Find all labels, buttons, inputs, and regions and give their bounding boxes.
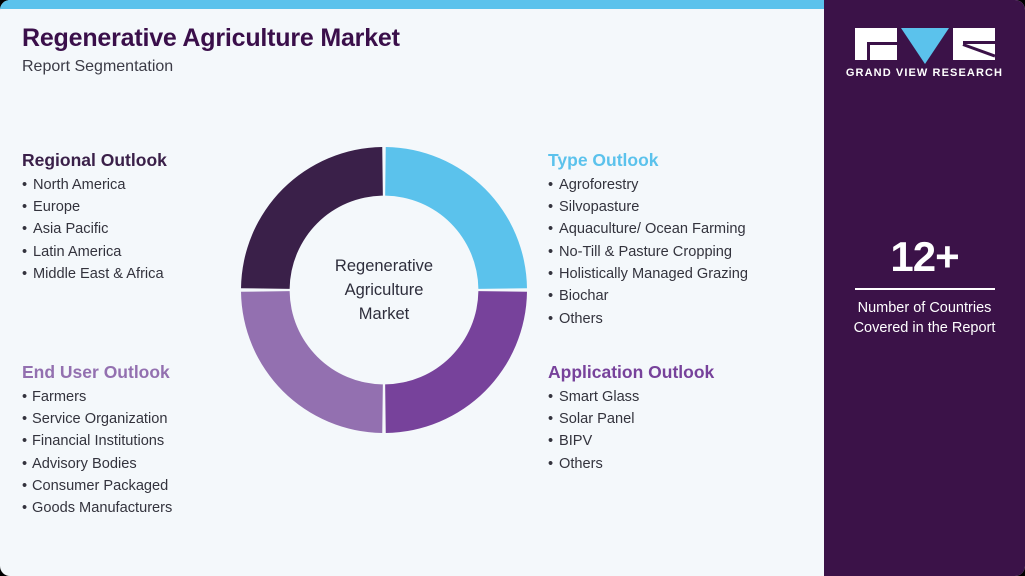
brand-logo: GRAND VIEW RESEARCH (824, 28, 1025, 79)
list-item-label: Holistically Managed Grazing (559, 266, 748, 282)
list-item-label: North America (33, 177, 125, 193)
bullet-icon: • (548, 308, 559, 330)
bullet-icon: • (22, 174, 33, 196)
donut-chart: Regenerative Agriculture Market (240, 146, 528, 434)
bullet-icon: • (548, 196, 559, 218)
section-application-outlook: Application Outlook •Smart Glass •Solar … (548, 362, 714, 475)
stat-caption: Number of Countries Covered in the Repor… (824, 298, 1025, 338)
bullet-icon: • (22, 497, 32, 519)
list-item: •Agroforestry (548, 174, 748, 196)
infographic-root: Regenerative Agriculture Market Report S… (0, 0, 1025, 576)
section-end-user-outlook: End User Outlook •Farmers •Service Organ… (22, 362, 172, 520)
end-user-outlook-list: •Farmers •Service Organization •Financia… (22, 386, 172, 520)
regional-outlook-heading: Regional Outlook (22, 150, 167, 172)
page-title: Regenerative Agriculture Market (22, 24, 722, 53)
list-item-label: Agroforestry (559, 177, 638, 193)
list-item: •Europe (22, 196, 167, 218)
application-outlook-heading: Application Outlook (548, 362, 714, 384)
list-item-label: Biochar (559, 288, 608, 304)
donut-segment (241, 291, 383, 433)
header: Regenerative Agriculture Market Report S… (22, 24, 722, 76)
stat-divider (855, 288, 995, 290)
list-item-label: BIPV (559, 433, 592, 449)
list-item-label: Advisory Bodies (32, 456, 137, 472)
list-item-label: Financial Institutions (32, 433, 164, 449)
list-item: •Others (548, 453, 714, 475)
list-item: •Holistically Managed Grazing (548, 263, 748, 285)
application-outlook-list: •Smart Glass •Solar Panel •BIPV •Others (548, 386, 714, 475)
bullet-icon: • (548, 241, 559, 263)
list-item: •Latin America (22, 241, 167, 263)
list-item: •Silvopasture (548, 196, 748, 218)
list-item: •Aquaculture/ Ocean Farming (548, 218, 748, 240)
list-item-label: Latin America (33, 244, 121, 260)
bullet-icon: • (22, 430, 32, 452)
bullet-icon: • (548, 218, 559, 240)
donut-chart-svg (240, 146, 528, 434)
list-item-label: Consumer Packaged (32, 478, 168, 494)
top-accent-bar (0, 0, 824, 9)
end-user-outlook-heading: End User Outlook (22, 362, 172, 384)
section-type-outlook: Type Outlook •Agroforestry •Silvopasture… (548, 150, 748, 330)
bullet-icon: • (22, 196, 33, 218)
list-item: •Asia Pacific (22, 218, 167, 240)
logo-r-icon (953, 28, 995, 60)
logo-marks (824, 28, 1025, 60)
list-item: •Advisory Bodies (22, 453, 172, 475)
list-item-label: Others (559, 456, 603, 472)
list-item: •Others (548, 308, 748, 330)
list-item: •No-Till & Pasture Cropping (548, 241, 748, 263)
list-item: •Service Organization (22, 408, 172, 430)
list-item: •Financial Institutions (22, 430, 172, 452)
list-item-label: Solar Panel (559, 411, 634, 427)
list-item: •Goods Manufacturers (22, 497, 172, 519)
list-item: •Farmers (22, 386, 172, 408)
stat-countries: 12+ Number of Countries Covered in the R… (824, 236, 1025, 338)
bullet-icon: • (548, 285, 559, 307)
bullet-icon: • (548, 174, 559, 196)
list-item: •Biochar (548, 285, 748, 307)
type-outlook-heading: Type Outlook (548, 150, 748, 172)
page-subtitle: Report Segmentation (22, 57, 722, 76)
donut-segment (385, 291, 527, 433)
bullet-icon: • (22, 241, 33, 263)
bullet-icon: • (22, 386, 32, 408)
donut-segment (385, 147, 527, 289)
bullet-icon: • (548, 453, 559, 475)
bullet-icon: • (22, 475, 32, 497)
list-item: •BIPV (548, 430, 714, 452)
bullet-icon: • (22, 453, 32, 475)
list-item: •Solar Panel (548, 408, 714, 430)
bullet-icon: • (548, 430, 559, 452)
logo-v-triangle-icon (901, 28, 949, 64)
brand-sidebar: GRAND VIEW RESEARCH 12+ Number of Countr… (824, 0, 1025, 576)
donut-segment (241, 147, 383, 289)
bullet-icon: • (548, 408, 559, 430)
regional-outlook-list: •North America •Europe •Asia Pacific •La… (22, 174, 167, 285)
list-item-label: Goods Manufacturers (32, 500, 172, 516)
list-item-label: Aquaculture/ Ocean Farming (559, 221, 746, 237)
list-item-label: Europe (33, 199, 80, 215)
stat-caption-line-2: Covered in the Report (824, 318, 1025, 338)
bullet-icon: • (22, 218, 33, 240)
bullet-icon: • (548, 386, 559, 408)
list-item-label: Service Organization (32, 411, 167, 427)
list-item-label: No-Till & Pasture Cropping (559, 244, 732, 260)
list-item-label: Silvopasture (559, 199, 639, 215)
list-item: •Consumer Packaged (22, 475, 172, 497)
list-item-label: Middle East & Africa (33, 266, 164, 282)
stat-number: 12+ (824, 236, 1025, 278)
bullet-icon: • (22, 408, 32, 430)
list-item-label: Smart Glass (559, 389, 639, 405)
list-item-label: Others (559, 311, 603, 327)
section-regional-outlook: Regional Outlook •North America •Europe … (22, 150, 167, 285)
bullet-icon: • (22, 263, 33, 285)
list-item-label: Asia Pacific (33, 221, 108, 237)
list-item: •North America (22, 174, 167, 196)
type-outlook-list: •Agroforestry •Silvopasture •Aquaculture… (548, 174, 748, 330)
stat-caption-line-1: Number of Countries (824, 298, 1025, 318)
logo-g-icon (855, 28, 897, 60)
bullet-icon: • (548, 263, 559, 285)
list-item: •Smart Glass (548, 386, 714, 408)
list-item: •Middle East & Africa (22, 263, 167, 285)
list-item-label: Farmers (32, 389, 86, 405)
logo-wordmark: GRAND VIEW RESEARCH (824, 67, 1025, 79)
